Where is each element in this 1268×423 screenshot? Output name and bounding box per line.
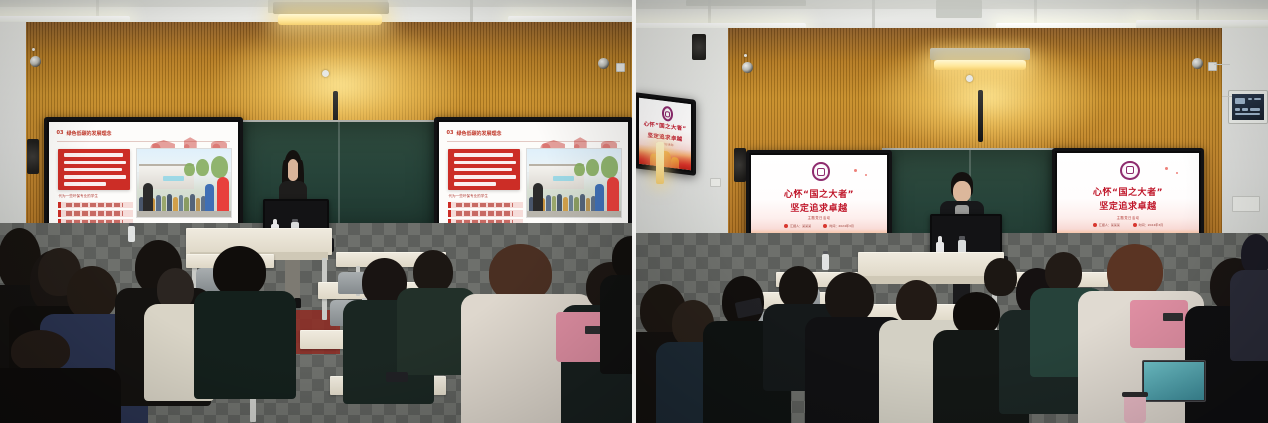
slide-green-low-carbon: 03 绿色低碳的发展理念 [49,122,238,231]
slide-mascot-blue [205,184,214,214]
ceiling-speaker [692,34,706,60]
slide-subtitle: 代为一些环保专业的学生 [448,194,488,199]
left-photograph: 03 绿色低碳的发展理念 [0,0,632,423]
display-right-screen: 03 绿色低碳的发展理念 [439,122,628,231]
ceiling-vent [936,0,982,18]
slide-group-photo [526,148,623,218]
wall-plate [710,178,721,187]
slide-subtitle: 代为一些环保专业的学生 [58,194,98,199]
slide-bullets [58,202,130,226]
wall-speaker [27,139,39,174]
slide-subtitle: 主题党日活动 [751,215,887,220]
display-far-left[interactable]: 心怀“国之大者” 坚定追求卓越 主题党日活动 [636,92,696,176]
panel-divider [632,0,636,423]
slide-footer: 汇报人：某某某 时间：2024年3月 [1057,223,1199,227]
slide-title-line1: 心怀“国之大者” [751,187,887,200]
slide-bullet [448,210,523,217]
slide-header-number: 03 [57,130,64,136]
slide-quote-box [58,149,130,189]
wall-speaker [734,148,746,182]
slide-mascot-blue [595,184,604,214]
ceiling-sensor [966,75,973,82]
status-led [744,54,747,57]
hanging-microphone [978,90,983,142]
slide-footer: 汇报人：某某某 时间：2024年3月 [751,224,887,228]
slide-footer-right: 时间：2024年3月 [1139,223,1164,227]
slide-mascot-dark [143,183,153,214]
audience-member [198,246,290,396]
slide-bullet [58,210,133,217]
display-far-left-screen: 心怀“国之大者” 坚定追求卓越 主题党日活动 [639,98,691,170]
university-crest [812,162,831,181]
slide-green-low-carbon: 03 绿色低碳的发展理念 [439,122,628,231]
mobile-phone[interactable] [386,372,408,382]
audience-member [974,258,1032,358]
dome-camera [1192,58,1203,69]
audience-member [0,330,110,423]
slide-group-photo [136,148,233,218]
display-left[interactable]: 03 绿色低碳的发展理念 [44,117,243,236]
slide-footer-left: 汇报人：某某某 [790,224,811,228]
lecture-hall-left: 03 绿色低碳的发展理念 [0,0,632,423]
slide-header-title: 绿色低碳的发展理念 [67,130,112,137]
slide-bullet [58,202,133,209]
dome-camera [30,56,41,67]
slide-quote-box [448,149,520,189]
slide-mascot-red [607,177,618,215]
slide-bullet [448,202,523,209]
lecture-hall-right: 心怀“国之大者” 坚定追求卓越 主题党日活动 [636,0,1268,423]
wall-light-strip [934,60,1026,70]
slide-red-ceremonial: 心怀“国之大者” 坚定追求卓越 主题党日活动 [639,98,691,170]
display-left-screen: 03 绿色低碳的发展理念 [49,122,238,231]
right-photograph: 心怀“国之大者” 坚定追求卓越 主题党日活动 [636,0,1268,423]
slide-mascot-dark [533,183,543,214]
side-wall [0,22,26,242]
coffee-cup [1124,396,1146,423]
dome-camera [742,62,753,73]
slide-header-title: 绿色低碳的发展理念 [457,130,502,137]
pink-backpack [1130,300,1188,348]
wall-light-strip [656,142,664,184]
presenter-head [953,181,971,202]
wall-plate [1232,196,1260,212]
wall-light-strip [278,14,382,25]
slide-bullets [448,202,520,226]
wall-plate [616,63,625,72]
status-led [32,48,35,51]
open-laptop[interactable] [1142,360,1206,402]
ceiling-vent [686,0,806,6]
slide-title-line1: 心怀“国之大者” [1057,185,1199,198]
wall-control-panel[interactable] [1228,90,1268,124]
light-housing [273,2,389,14]
slide-subtitle: 主题党日活动 [1057,215,1199,220]
ceiling-sensor [322,70,329,77]
chalkboard-seam [338,122,340,230]
slide-header-number: 03 [447,130,454,136]
university-crest [662,106,673,123]
slide-footer-right: 时间：2024年3月 [829,224,854,228]
slide-footer-left: 汇报人：某某某 [1099,223,1120,227]
slide-mascot-red [217,177,228,215]
slide-title-line2: 坚定追求卓越 [1057,199,1199,212]
audience-member [604,236,632,366]
dome-camera [598,58,609,69]
display-right[interactable]: 03 绿色低碳的发展理念 [434,117,632,236]
photo-pair-stage: 03 绿色低碳的发展理念 [0,0,1268,423]
slide-header: 03 绿色低碳的发展理念 [447,130,502,137]
audience-member [1234,234,1268,354]
slide-title-line2: 坚定追求卓越 [751,201,887,214]
slide-header: 03 绿色低碳的发展理念 [57,130,112,137]
light-housing [930,48,1030,60]
university-crest [1120,161,1140,180]
